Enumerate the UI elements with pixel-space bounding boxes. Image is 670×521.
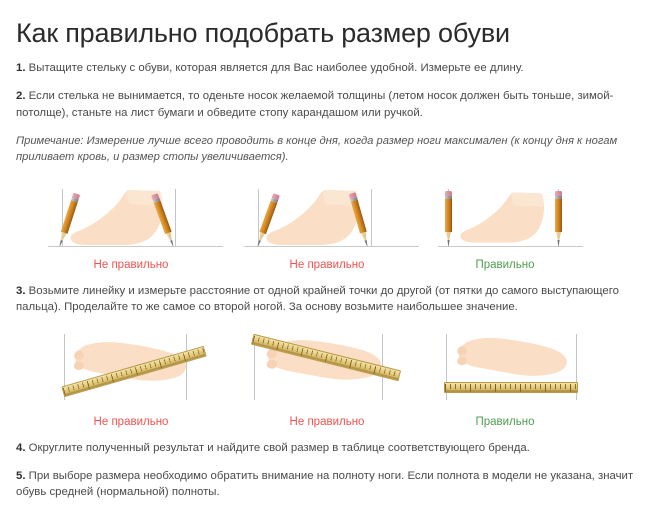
step-3-text: Возьмите линейку и измерьте расстояние о… — [16, 285, 619, 314]
ground-line — [438, 246, 583, 247]
ruler-panel-wrong-1: Не правильно — [38, 328, 234, 426]
step-4-text: Округлите полученный результат и найдите… — [26, 442, 530, 454]
pencil-scene-1 — [38, 177, 234, 247]
step-1-number: 1. — [16, 62, 26, 74]
ruler-illustration — [444, 382, 578, 393]
ruler-caption-1: Не правильно — [38, 416, 224, 428]
pencil-wood-icon — [59, 232, 67, 242]
pencil-scene-2 — [234, 177, 430, 247]
measurement-note: Примечание: Измерение лучше всего провод… — [16, 133, 654, 165]
pencil-right — [555, 191, 562, 247]
step-4-number: 4. — [16, 442, 26, 454]
ground-line — [48, 246, 223, 247]
pencil-illustration-row: Не правильно — [16, 177, 654, 269]
pencil-scene-3 — [430, 177, 626, 247]
pencil-left — [445, 191, 452, 247]
step-2-number: 2. — [16, 90, 26, 102]
page-title: Как правильно подобрать размер обуви — [16, 18, 654, 49]
step-5-text: При выборе размера необходимо обратить в… — [16, 470, 633, 499]
pencil-wood-icon — [361, 232, 368, 242]
pencil-caption-3: Правильно — [430, 259, 580, 271]
ruler-illustration-row: Не правильно Не правильно — [16, 328, 654, 426]
ruler-panel-wrong-2: Не правильно — [234, 328, 430, 426]
ruler-scene-3 — [430, 328, 626, 400]
ruler-edge — [445, 390, 577, 392]
step-3-number: 3. — [16, 285, 26, 297]
step-2: 2. Если стелька не вынимается, то оденьт… — [16, 88, 654, 121]
pencil-wood-icon — [556, 232, 561, 241]
step-2-text: Если стелька не вынимается, то оденьте н… — [16, 90, 613, 119]
step-1: 1. Вытащите стельку с обуви, которая явл… — [16, 60, 654, 77]
foot-side-illustration — [458, 190, 558, 246]
pencil-panel-wrong-1: Не правильно — [38, 177, 234, 269]
pencil-caption-2: Не правильно — [234, 259, 420, 271]
step-5-number: 5. — [16, 470, 26, 482]
ruler-scene-1 — [38, 328, 234, 400]
ruler-caption-2: Не правильно — [234, 416, 420, 428]
step-4: 4. Округлите полученный результат и найд… — [16, 440, 654, 457]
pencil-wood-icon — [446, 232, 451, 241]
pencil-panel-correct: Правильно — [430, 177, 626, 269]
shoe-size-guide-page: Как правильно подобрать размер обуви 1. … — [0, 18, 670, 521]
step-1-text: Вытащите стельку с обуви, которая являет… — [26, 62, 524, 74]
ruler-scene-2 — [234, 328, 430, 400]
step-3: 3. Возьмите линейку и измерьте расстояни… — [16, 283, 654, 316]
foot-top-illustration — [452, 334, 572, 378]
pencil-panel-wrong-2: Не правильно — [234, 177, 430, 269]
pencil-body-icon — [555, 199, 562, 232]
step-5: 5. При выборе размера необходимо обратит… — [16, 468, 654, 501]
pencil-body-icon — [445, 199, 452, 232]
ground-line — [244, 246, 419, 247]
pencil-caption-1: Не правильно — [38, 259, 224, 271]
ruler-panel-correct: Правильно — [430, 328, 626, 426]
ruler-caption-3: Правильно — [430, 416, 580, 428]
